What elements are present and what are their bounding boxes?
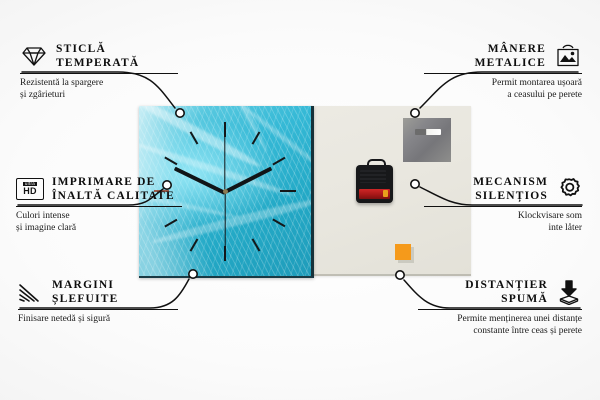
- divider: [16, 206, 182, 207]
- ultra-hd-icon-large-text: HD: [23, 187, 36, 196]
- hour-tick: [252, 239, 260, 252]
- feature-desc-line1: Klockvisare som: [424, 210, 582, 222]
- arrow-down-block-icon: [556, 279, 582, 305]
- feature-metal-handles: MÂNERE METALICE Permit montarea ușoară a…: [424, 42, 582, 101]
- divider: [18, 309, 178, 310]
- hanger-slot: [415, 129, 441, 135]
- feature-title-line2: ÎNALTĂ CALITATE: [52, 189, 175, 203]
- infographic-canvas: STICLĂ TEMPERATĂ Rezistentă la spargere …: [0, 0, 600, 400]
- feature-foam-spacer: DISTANȚIER SPUMĂ Permite menținerea unei…: [418, 278, 582, 337]
- feature-title-line1: MARGINI: [52, 278, 118, 292]
- feature-title-line1: MÂNERE: [475, 42, 546, 56]
- divider: [418, 309, 582, 310]
- feature-title-line2: SPUMĂ: [465, 292, 548, 306]
- feature-silent-mechanism: MECANISM SILENȚIOS Klockvisare som inte …: [424, 175, 582, 234]
- feature-desc-line1: Permite menținerea unei distanțe: [418, 313, 582, 325]
- diamond-icon: [20, 45, 48, 67]
- feature-title-line1: MECANISM: [473, 175, 548, 189]
- feature-desc-line2: inte låter: [424, 222, 582, 234]
- gear-icon: [556, 176, 582, 202]
- product-image: [139, 106, 471, 276]
- clock-mechanism: [356, 165, 393, 203]
- ultra-hd-icon: ultra HD: [16, 178, 44, 200]
- feature-desc-line2: constante între ceas și perete: [418, 325, 582, 337]
- feature-high-quality-print: ultra HD IMPRIMARE DE ÎNALTĂ CALITATE Cu…: [16, 175, 182, 234]
- second-hand-tail: [224, 130, 225, 192]
- feature-title-line2: METALICE: [475, 56, 546, 70]
- feature-desc-line1: Culori intense: [16, 210, 182, 222]
- second-hand: [224, 192, 225, 250]
- feature-title-line1: STICLĂ: [56, 42, 139, 56]
- divider: [20, 73, 178, 74]
- feature-title-line2: ȘLEFUITE: [52, 292, 118, 306]
- feature-desc-line1: Finisare netedă și sigură: [18, 313, 178, 325]
- feature-polished-edges: MARGINI ȘLEFUITE Finisare netedă și sigu…: [18, 278, 178, 325]
- foam-spacer-pad: [395, 244, 411, 260]
- battery: [359, 189, 390, 199]
- feature-title-line1: DISTANȚIER: [465, 278, 548, 292]
- feature-tempered-glass: STICLĂ TEMPERATĂ Rezistentă la spargere …: [20, 42, 178, 101]
- hour-tick: [272, 219, 285, 227]
- clock-center-cap: [223, 189, 228, 194]
- hanger-plate: [403, 118, 451, 162]
- feature-desc-line1: Permit montarea ușoară: [424, 77, 582, 89]
- hour-tick: [272, 157, 285, 165]
- feature-title-line2: TEMPERATĂ: [56, 56, 139, 70]
- hour-tick: [280, 190, 296, 192]
- mechanism-detail: [360, 170, 386, 183]
- divider: [424, 73, 582, 74]
- feature-desc-line2: și zgârieturi: [20, 89, 178, 101]
- hour-tick: [190, 239, 198, 252]
- divider: [424, 206, 582, 207]
- diagonal-lines-icon: [18, 281, 44, 303]
- feature-title-line1: IMPRIMARE DE: [52, 175, 175, 189]
- feature-desc-line2: și imagine clară: [16, 222, 182, 234]
- feature-desc-line1: Rezistentă la spargere: [20, 77, 178, 89]
- feature-title-line2: SILENȚIOS: [473, 189, 548, 203]
- feature-desc-line2: a ceasului pe perete: [424, 89, 582, 101]
- picture-hanger-icon: [554, 44, 582, 68]
